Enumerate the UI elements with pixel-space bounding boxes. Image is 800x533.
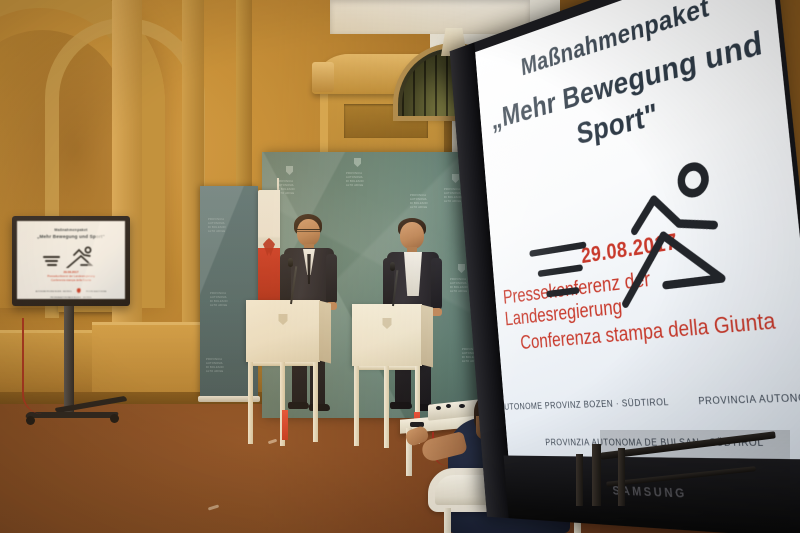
slide-footer: AUTONOME PROVINZ BOZEN · SÜDTIROL PROVIN… xyxy=(36,288,107,296)
slide-footer-bottom: PROVINZIA AUTONOMA DE BULSAN · SÜDTIROL xyxy=(50,297,92,299)
monitor-screen: Maßnahmenpaket „Mehr Bewegung und Sport"… xyxy=(17,221,125,299)
lectern-top xyxy=(246,300,320,362)
slide-footer-right: PROVINCIA AUTONOMA xyxy=(698,390,800,407)
tyrolean-eagle-icon xyxy=(681,376,686,426)
trolley-bar xyxy=(606,466,756,487)
lectern-side xyxy=(421,305,433,368)
speed-line xyxy=(43,256,60,258)
banner-mark: PROVINCIAAUTONOMADI BOLZANOALTO ADIGE xyxy=(210,292,228,308)
trolley-column xyxy=(618,448,625,506)
backdrop-mark: PROVINCIAAUTONOMADI BOLZANOALTO ADIGE xyxy=(346,172,364,188)
arm-right xyxy=(326,254,337,304)
lectern-leg xyxy=(354,366,359,446)
trolley-column xyxy=(576,454,583,506)
speed-line xyxy=(47,264,57,266)
microphone-head xyxy=(288,258,293,267)
head xyxy=(400,222,424,249)
speed-line xyxy=(529,241,586,257)
lectern-top xyxy=(352,304,422,366)
speed-line xyxy=(45,260,58,262)
slide-title-line1: Maßnahmenpaket xyxy=(54,228,87,232)
cable xyxy=(22,318,52,414)
shield-crest-icon xyxy=(286,166,293,175)
microphone-head xyxy=(390,262,395,271)
door-bracket-left xyxy=(312,62,334,92)
slide-large: Maßnahmenpaket „Mehr Bewegung und Sport" xyxy=(475,0,800,459)
lectern-leg xyxy=(313,362,318,442)
slide-subtitle-it: Conferenza stampa della Giunta xyxy=(51,279,91,283)
runner-glyph xyxy=(61,246,99,268)
display-screen: Maßnahmenpaket „Mehr Bewegung und Sport" xyxy=(475,0,800,459)
monitor-stand-pole xyxy=(64,306,74,416)
speed-line xyxy=(538,264,583,277)
slide-footer-left: AUTONOME PROVINZ BOZEN · SÜDTIROL xyxy=(499,396,669,412)
backdrop-mark: PROVINCIAAUTONOMADI BOLZANOALTO ADIGE xyxy=(410,194,428,210)
banner-mark: PROVINCIAAUTONOMADI BOLZANOALTO ADIGE xyxy=(208,218,226,234)
backdrop-mark: PROVINCIAAUTONOMADI BOLZANOALTO ADIGE xyxy=(444,188,462,204)
slide-small: Maßnahmenpaket „Mehr Bewegung und Sport"… xyxy=(17,221,125,299)
slide-footer: AUTONOME PROVINZ BOZEN · SÜDTIROL PROVIN… xyxy=(510,370,800,428)
trolley-bar xyxy=(600,431,776,459)
caster-wheel xyxy=(110,414,119,423)
lectern-side xyxy=(319,301,331,364)
shield-crest-icon xyxy=(452,174,459,183)
tyrolean-eagle-icon xyxy=(76,288,82,296)
floor-marker-tape xyxy=(282,410,288,440)
glasses-icon xyxy=(297,229,320,232)
trolley-column xyxy=(592,444,601,506)
banner-mark: PROVINCIAAUTONOMADI BOLZANOALTO ADIGE xyxy=(206,358,224,374)
photo-scene: PROVINCIAAUTONOMADI BOLZANOALTO ADIGE PR… xyxy=(0,0,800,533)
cornice xyxy=(330,0,530,34)
backdrop-mark: PROVINCIAAUTONOMADI BOLZANOALTO ADIGE xyxy=(450,278,468,294)
running-figure-icon xyxy=(43,246,99,264)
runner-glyph xyxy=(595,152,748,311)
arm-right xyxy=(431,258,442,310)
slide-date: 29.08.2017 xyxy=(63,270,78,274)
caster-wheel xyxy=(26,416,35,425)
lectern-left xyxy=(246,300,320,446)
lectern-leg xyxy=(384,366,389,448)
chair-leg xyxy=(444,508,451,533)
slide-footer-right: PROVINCIA AUTONOMA xyxy=(86,291,107,293)
head xyxy=(297,219,320,246)
shield-crest-icon xyxy=(354,158,361,167)
display-trolley xyxy=(600,430,790,533)
slide-title-line2: „Mehr Bewegung und Sport" xyxy=(37,234,105,240)
slide-footer-left: AUTONOME PROVINZ BOZEN · SÜDTIROL xyxy=(36,291,72,293)
shield-crest-icon xyxy=(458,264,465,273)
lectern-leg xyxy=(248,362,253,444)
